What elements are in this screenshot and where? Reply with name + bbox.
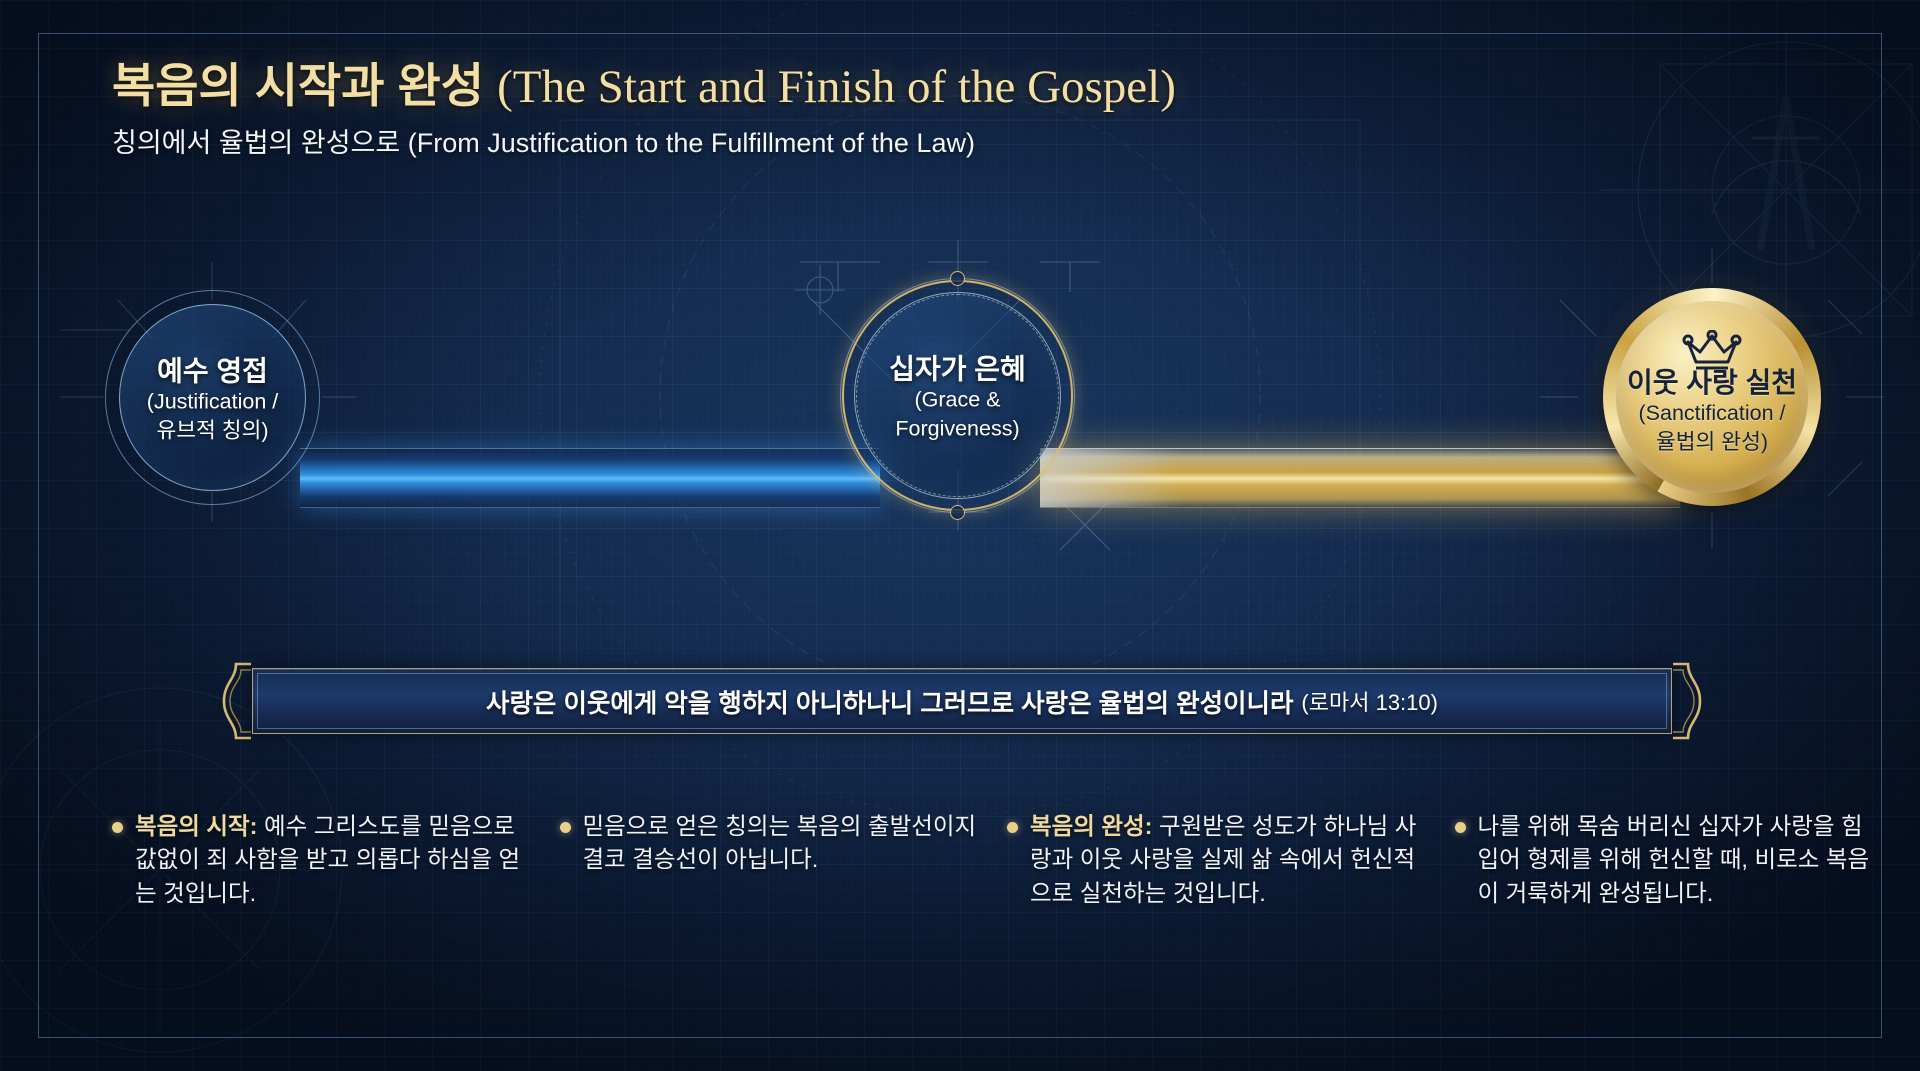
bullet-dot-icon: [1455, 822, 1466, 833]
bullet-rest: 나를 위해 목숨 버리신 십자가 사랑을 힘입어 형제를 위해 헌신할 때, 비…: [1478, 813, 1870, 906]
node-tick-dot-bottom: [950, 505, 965, 520]
bullet-lead: 복음의 완성:: [1030, 813, 1159, 839]
list-item: 믿음으로 얻은 칭의는 복음의 출발선이지 결코 결승선이 아닙니다.: [560, 810, 978, 910]
banner-cap-left: [222, 661, 252, 741]
verse-reference: (로마서 13:10): [1301, 685, 1438, 717]
page-title: 복음의 시작과 완성 (The Start and Finish of the …: [112, 60, 1176, 114]
bullet-lead: 복음의 시작:: [135, 813, 264, 839]
node-tick-dot-top: [950, 271, 965, 286]
bullet-dot-icon: [560, 822, 571, 833]
bullet-dot-icon: [112, 822, 123, 833]
bullet-text: 나를 위해 목숨 버리신 십자가 사랑을 힘입어 형제를 위해 헌신할 때, 비…: [1478, 810, 1873, 910]
connector-blue: [300, 448, 880, 508]
page-title-en: (The Start and Finish of the Gospel): [497, 61, 1176, 113]
background-vignette: [0, 0, 1920, 1071]
header: 복음의 시작과 완성 (The Start and Finish of the …: [112, 60, 1176, 160]
node-sanctification[interactable]: 이웃 사랑 실천 (Sanctification / 율법의 완성): [1603, 288, 1821, 506]
list-item: 복음의 시작: 예수 그리스도를 믿음으로 값없이 죄 사함을 받고 의롭다 하…: [112, 810, 530, 910]
bullet-text: 믿음으로 얻은 칭의는 복음의 출발선이지 결코 결승선이 아닙니다.: [583, 810, 978, 910]
node-justification[interactable]: 예수 영접 (Justification / 유브적 칭의): [105, 290, 320, 505]
bullet-dot-icon: [1007, 822, 1018, 833]
banner-cap-right: [1672, 661, 1702, 741]
list-item: 나를 위해 목숨 버리신 십자가 사랑을 힘입어 형제를 위해 헌신할 때, 비…: [1455, 810, 1873, 910]
bullet-text: 복음의 시작: 예수 그리스도를 믿음으로 값없이 죄 사함을 받고 의롭다 하…: [135, 810, 530, 910]
bullet-list: 복음의 시작: 예수 그리스도를 믿음으로 값없이 죄 사함을 받고 의롭다 하…: [112, 810, 1872, 910]
verse-banner: 사랑은 이웃에게 악을 행하지 아니하나니 그러므로 사랑은 율법의 완성이니라…: [252, 668, 1672, 734]
crown-icon: [1681, 330, 1743, 377]
connector-gold: [1040, 448, 1680, 508]
verse-text: 사랑은 이웃에게 악을 행하지 아니하나니 그러므로 사랑은 율법의 완성이니라: [486, 683, 1293, 720]
page-subtitle: 칭의에서 율법의 완성으로 (From Justification to the…: [112, 121, 1176, 160]
node-gold-dashed-ring: [856, 294, 1059, 497]
page-title-ko: 복음의 시작과 완성: [112, 59, 484, 112]
bullet-text: 복음의 완성: 구원받은 성도가 하나님 사랑과 이웃 사랑을 실제 삶 속에서…: [1030, 810, 1425, 910]
node-grace[interactable]: 십자가 은혜 (Grace & Forgiveness): [840, 278, 1075, 513]
bullet-rest: 믿음으로 얻은 칭의는 복음의 출발선이지 결코 결승선이 아닙니다.: [583, 813, 977, 872]
list-item: 복음의 완성: 구원받은 성도가 하나님 사랑과 이웃 사랑을 실제 삶 속에서…: [1007, 810, 1425, 910]
verse-text-row: 사랑은 이웃에게 악을 행하지 아니하나니 그러므로 사랑은 율법의 완성이니라…: [252, 668, 1672, 734]
node-inner-ring: [119, 304, 306, 491]
background-layer: [0, 0, 1920, 1071]
